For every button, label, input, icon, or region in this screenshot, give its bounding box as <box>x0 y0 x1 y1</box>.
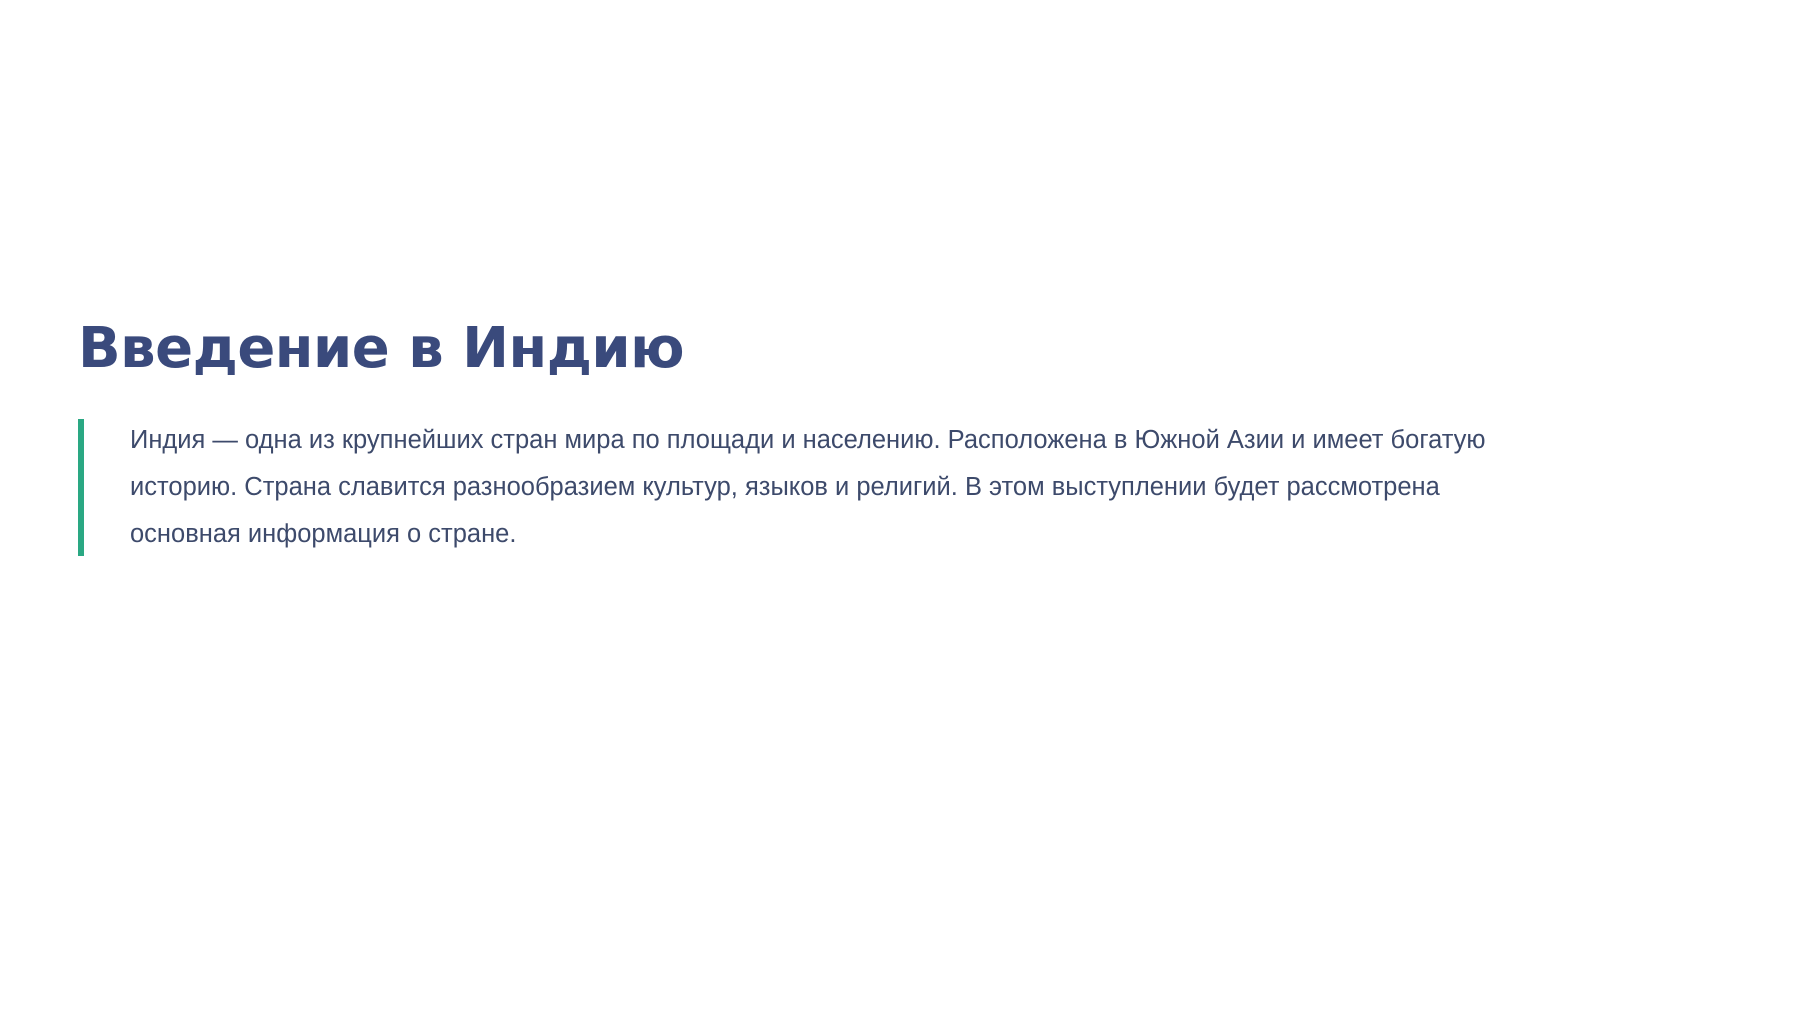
slide-content: Введение в Индию Индия — одна из крупней… <box>78 318 1738 558</box>
page-title: Введение в Индию <box>78 318 1738 381</box>
body-paragraph: Индия — одна из крупнейших стран мира по… <box>130 417 1550 559</box>
accent-bar <box>78 419 84 557</box>
body-block: Индия — одна из крупнейших стран мира по… <box>78 417 1738 559</box>
slide-canvas: Введение в Индию Индия — одна из крупней… <box>0 0 1800 1013</box>
